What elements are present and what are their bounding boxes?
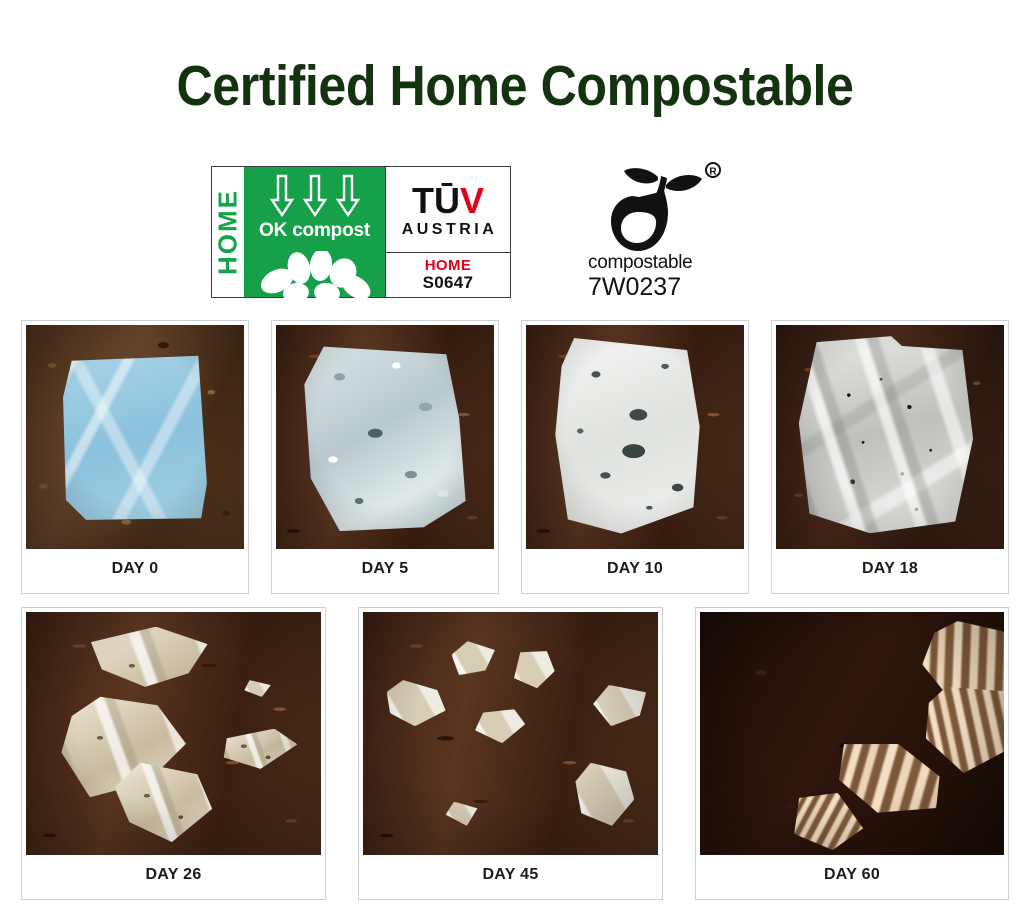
photo-day-5 bbox=[276, 325, 494, 549]
tuv-wordmark: TŪV bbox=[412, 184, 484, 218]
plastic-film-sample bbox=[552, 334, 709, 536]
certificate-number: S0647 bbox=[423, 274, 474, 292]
bpi-compostable-logo: R compostable 7W0237 bbox=[588, 158, 748, 306]
photo-day-26 bbox=[26, 612, 321, 855]
home-vertical-label: HOME bbox=[212, 167, 244, 297]
tuv-letter-t: T bbox=[412, 184, 434, 218]
down-arrow-icon bbox=[270, 174, 294, 218]
ok-compost-green-panel: HOME OK compost bbox=[212, 167, 385, 297]
caption-day-18: DAY 18 bbox=[776, 549, 1004, 589]
tuv-austria-label: AUSTRIA bbox=[399, 221, 498, 239]
ok-compost-label: OK compost bbox=[259, 220, 370, 242]
bpi-certificate-number: 7W0237 bbox=[588, 273, 748, 302]
compostable-word: compostable bbox=[588, 252, 748, 274]
compostability-infographic: Certified Home Compostable HOME bbox=[0, 0, 1030, 922]
page-title: Certified Home Compostable bbox=[62, 58, 968, 115]
certification-logo-band: HOME OK compost bbox=[0, 158, 1030, 308]
certificate-scheme: HOME bbox=[425, 258, 472, 274]
photo-day-18 bbox=[776, 325, 1004, 549]
registered-trademark-icon: R bbox=[706, 163, 720, 178]
timeline-card-day-0: DAY 0 bbox=[21, 320, 249, 594]
tuv-austria-panel: TŪV AUSTRIA HOME S0647 bbox=[385, 167, 510, 297]
caption-day-26: DAY 26 bbox=[26, 855, 321, 895]
plastic-film-sample bbox=[304, 343, 465, 531]
timeline-card-day-10: DAY 10 bbox=[521, 320, 749, 594]
timeline-card-day-18: DAY 18 bbox=[771, 320, 1009, 594]
timeline-card-day-5: DAY 5 bbox=[271, 320, 499, 594]
plastic-film-sample bbox=[63, 354, 207, 520]
flower-icon bbox=[252, 251, 378, 299]
timeline-card-day-60: DAY 60 bbox=[695, 607, 1009, 900]
seedling-sprout-icon: R bbox=[598, 158, 728, 258]
photo-day-10 bbox=[526, 325, 744, 549]
caption-day-0: DAY 0 bbox=[26, 549, 244, 589]
caption-day-60: DAY 60 bbox=[700, 855, 1004, 895]
caption-day-5: DAY 5 bbox=[276, 549, 494, 589]
photo-day-0 bbox=[26, 325, 244, 549]
caption-day-10: DAY 10 bbox=[526, 549, 744, 589]
caption-day-45: DAY 45 bbox=[363, 855, 658, 895]
timeline-card-day-26: DAY 26 bbox=[21, 607, 326, 900]
svg-text:R: R bbox=[709, 167, 717, 178]
down-arrow-icon bbox=[303, 174, 327, 218]
timeline-card-day-45: DAY 45 bbox=[358, 607, 663, 900]
tuv-letter-u-macron: Ū bbox=[434, 184, 460, 218]
ok-compost-home-logo: HOME OK compost bbox=[211, 166, 511, 298]
photo-day-45 bbox=[363, 612, 658, 855]
down-arrows-group bbox=[270, 174, 360, 218]
home-vertical-text: HOME bbox=[213, 189, 244, 275]
certificate-block: HOME S0647 bbox=[386, 253, 510, 297]
down-arrow-icon bbox=[336, 174, 360, 218]
photo-day-60 bbox=[700, 612, 1004, 855]
tuv-letter-v: V bbox=[460, 184, 484, 218]
plastic-film-sample bbox=[799, 336, 977, 533]
